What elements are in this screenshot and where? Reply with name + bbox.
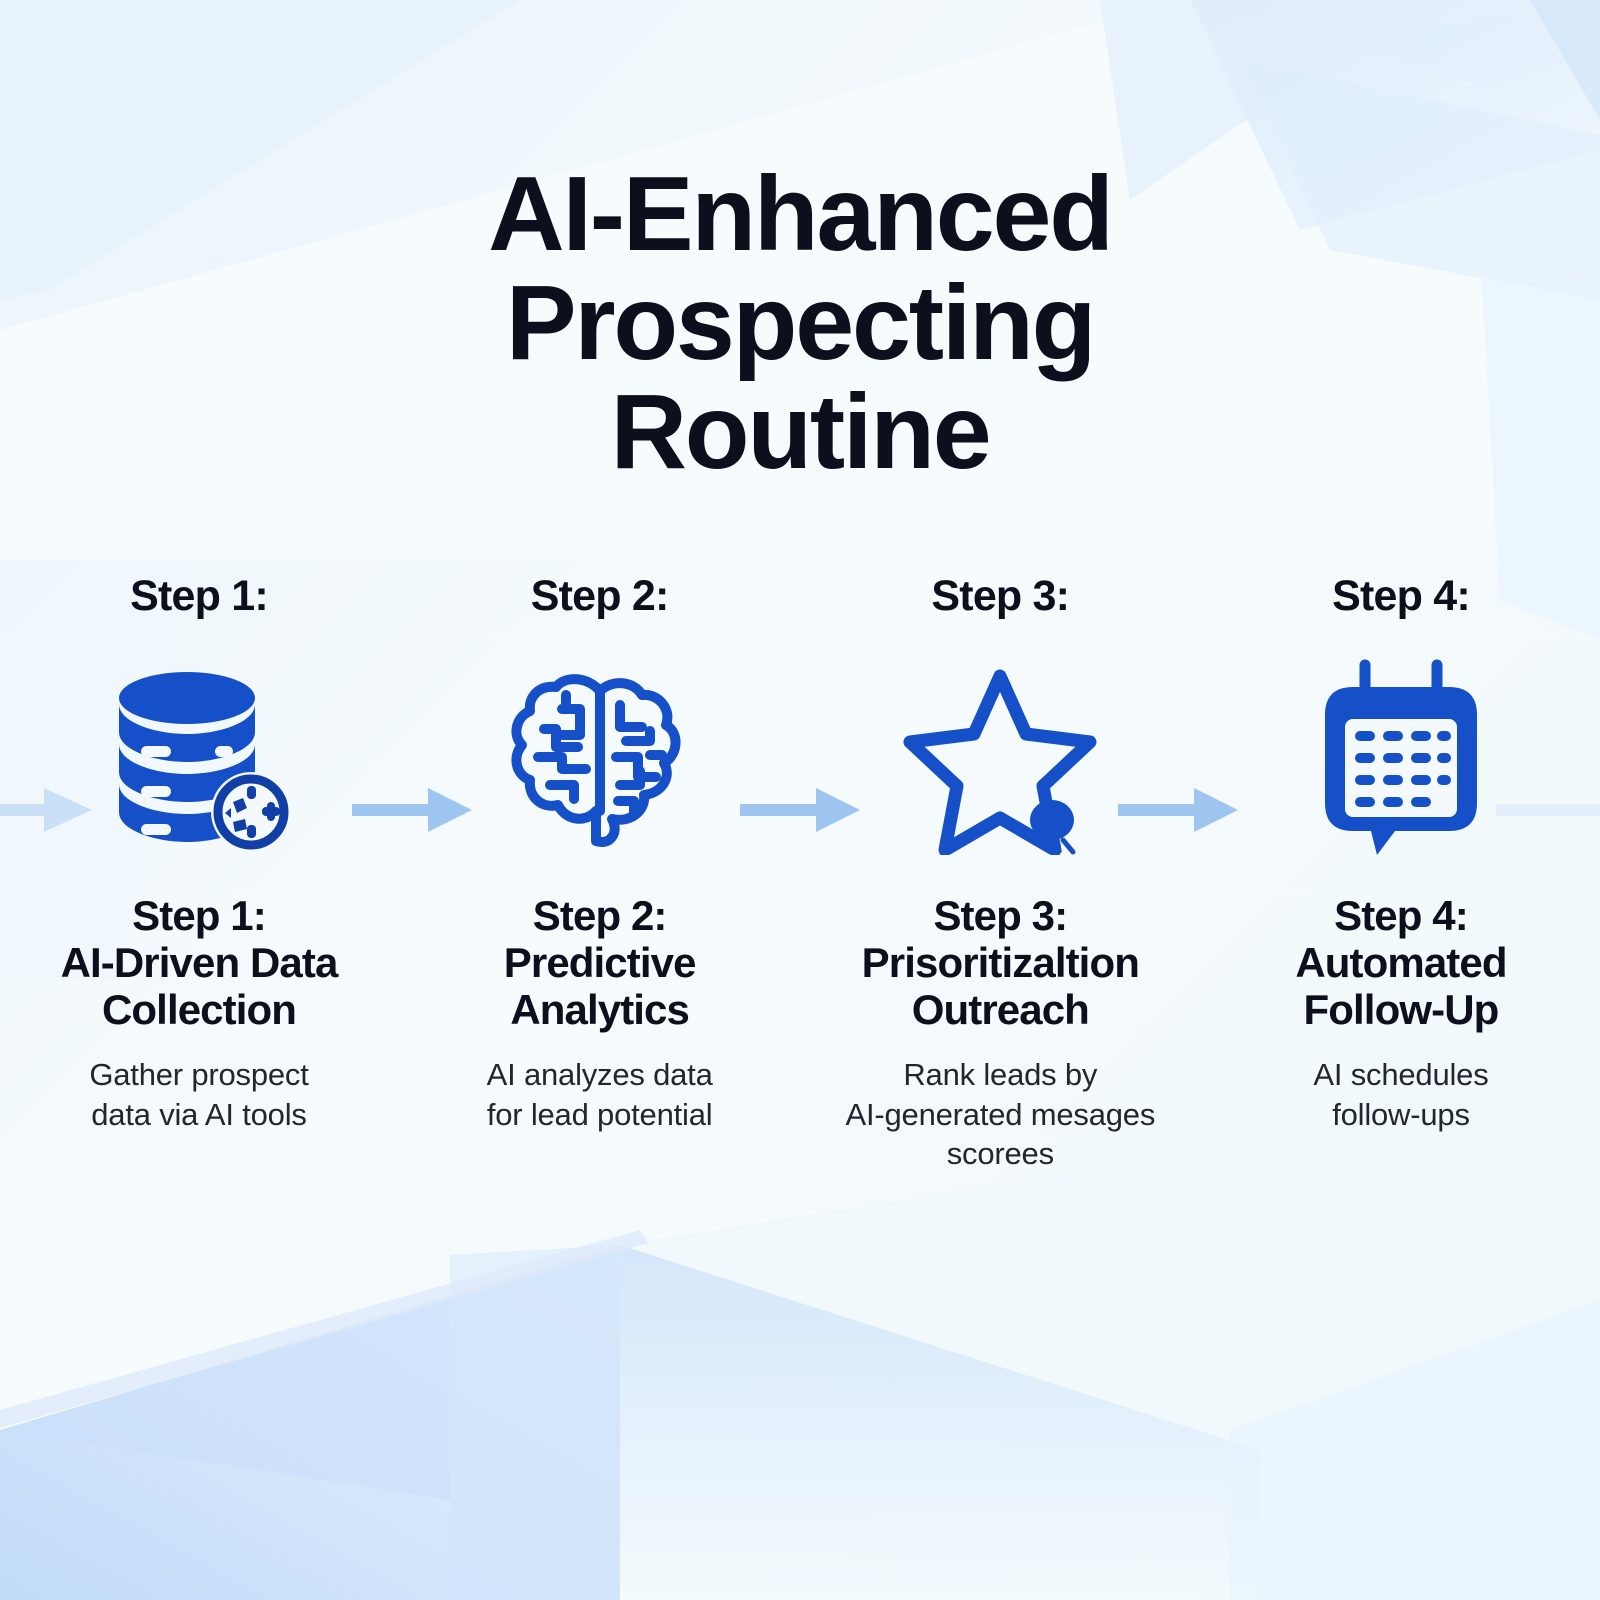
calendar-chat-icon: [1296, 652, 1506, 862]
step-column-2: Step 2:: [435, 575, 765, 1134]
database-icon: [94, 652, 304, 862]
step-4-title-line-3: Follow-Up: [1295, 986, 1506, 1033]
step-2-title-line-3: Analytics: [504, 986, 696, 1033]
step-column-4: Step 4:: [1236, 575, 1566, 1134]
step-3-title-line-3: Outreach: [862, 986, 1139, 1033]
step-2-description: AI analyzes data for lead potential: [487, 1055, 713, 1134]
step-4-header: Step 4:: [1332, 575, 1470, 618]
step-4-title: Step 4: Automated Follow-Up: [1295, 892, 1506, 1033]
star-icon: [895, 652, 1105, 862]
title-line-3: Routine: [0, 378, 1600, 487]
step-4-title-line-2: Automated: [1295, 939, 1506, 986]
step-column-1: Step 1:: [34, 575, 364, 1134]
step-2-desc-line-2: for lead potential: [487, 1095, 713, 1135]
step-column-3: Step 3: Step 3: Prisoritizaltion Outreac…: [835, 575, 1165, 1174]
step-1-desc-line-2: data via AI tools: [89, 1095, 308, 1135]
infographic-canvas: AI-Enhanced Prospecting Routine: [0, 0, 1600, 1600]
step-2-header: Step 2:: [531, 575, 669, 618]
step-4-description: AI schedules follow-ups: [1313, 1055, 1488, 1134]
step-4-title-line-1: Step 4:: [1295, 892, 1506, 939]
step-2-desc-line-1: AI analyzes data: [487, 1055, 713, 1095]
step-3-title-line-2: Prisoritizaltion: [862, 939, 1139, 986]
step-4-desc-line-2: follow-ups: [1313, 1095, 1488, 1135]
step-2-title-line-2: Predictive: [504, 939, 696, 986]
step-3-desc-line-1: Rank leads by: [845, 1055, 1155, 1095]
step-3-desc-line-3: scorees: [845, 1134, 1155, 1174]
step-2-title: Step 2: Predictive Analytics: [504, 892, 696, 1033]
step-3-description: Rank leads by AI-generated mesages score…: [845, 1055, 1155, 1174]
step-1-title-line-3: Collection: [61, 986, 338, 1033]
step-1-header: Step 1:: [130, 575, 268, 618]
step-2-title-line-1: Step 2:: [504, 892, 696, 939]
page-title: AI-Enhanced Prospecting Routine: [0, 160, 1600, 488]
step-1-desc-line-1: Gather prospect: [89, 1055, 308, 1095]
step-1-title-line-2: AI-Driven Data: [61, 939, 338, 986]
step-3-title-line-1: Step 3:: [862, 892, 1139, 939]
title-line-2: Prospecting: [0, 269, 1600, 378]
step-1-description: Gather prospect data via AI tools: [89, 1055, 308, 1134]
step-1-title: Step 1: AI-Driven Data Collection: [61, 892, 338, 1033]
step-3-desc-line-2: AI-generated mesages: [845, 1095, 1155, 1135]
process-flow: Step 1:: [0, 575, 1600, 1174]
brain-icon: [495, 652, 705, 862]
step-3-title: Step 3: Prisoritizaltion Outreach: [862, 892, 1139, 1033]
step-4-desc-line-1: AI schedules: [1313, 1055, 1488, 1095]
title-line-1: AI-Enhanced: [0, 160, 1600, 269]
step-1-title-line-1: Step 1:: [61, 892, 338, 939]
step-3-header: Step 3:: [931, 575, 1069, 618]
